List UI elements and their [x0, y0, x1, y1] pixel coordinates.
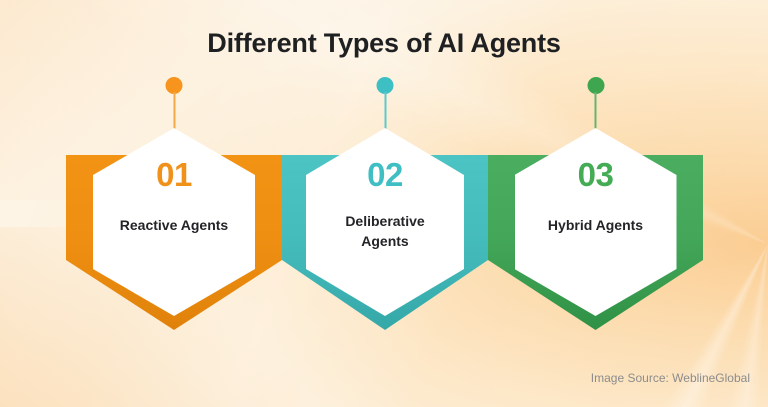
card-number-2: 02 [367, 158, 403, 191]
agent-type-card-2: 02 Deliberative Agents [282, 0, 488, 340]
card-number-1: 01 [156, 158, 192, 191]
card-number-3: 03 [578, 158, 614, 191]
agent-type-card-1: 01 Reactive Agents [66, 0, 282, 340]
agent-type-card-3: 03 Hybrid Agents [488, 0, 703, 340]
card-label-1: Reactive Agents [110, 215, 238, 235]
card-label-2: Deliberative Agents [330, 211, 440, 252]
card-label-3: Hybrid Agents [532, 215, 660, 235]
infographic-canvas: Different Types of AI Agents 01 Reactive… [0, 0, 768, 407]
cards-row: 01 Reactive Agents 02 Deliberative Agent… [0, 0, 768, 407]
image-source-credit: Image Source: WeblineGlobal [591, 371, 750, 385]
